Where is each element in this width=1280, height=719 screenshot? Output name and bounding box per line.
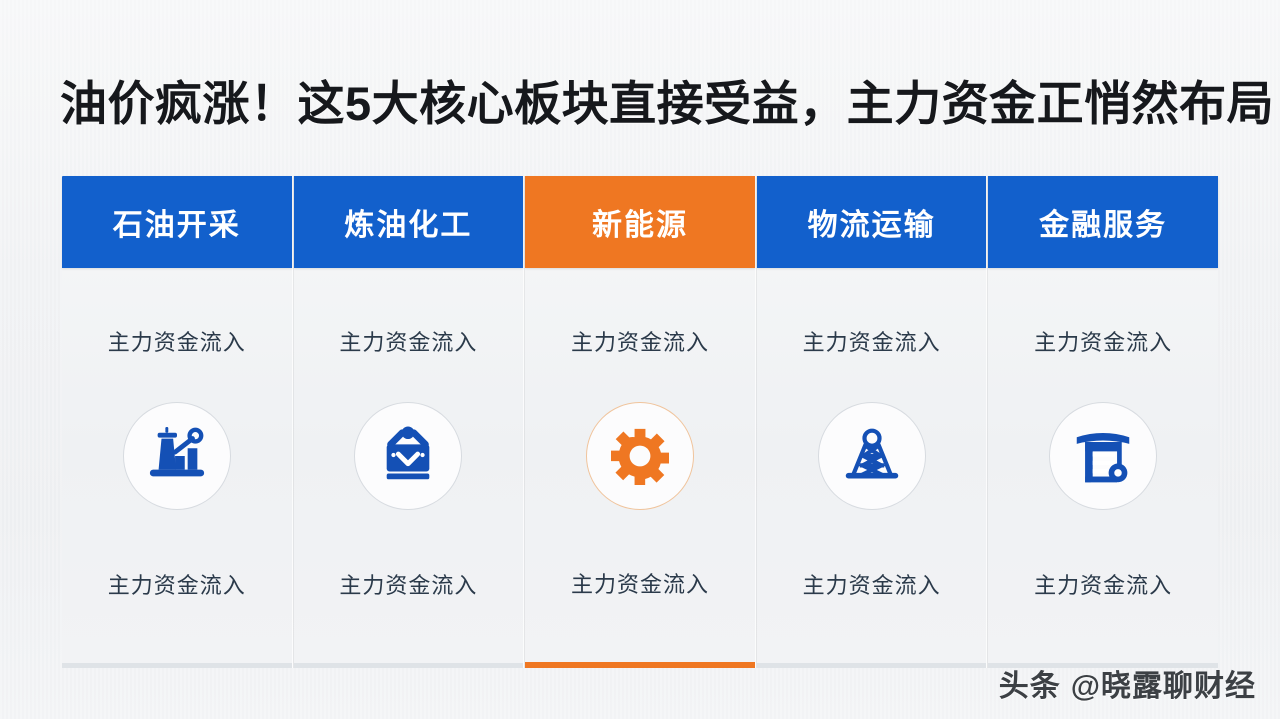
watermark-platform: 头条 — [999, 661, 1061, 705]
gear-icon — [611, 427, 669, 485]
card-header-finance: 金融服务 — [988, 176, 1218, 268]
icon-circle — [586, 402, 694, 510]
page-title: 油价疯涨！这5大核心板块直接受益，主力资金正悄然布局！ — [60, 62, 1230, 136]
card-header-refining: 炼油化工 — [294, 176, 524, 268]
card-bottom-text: 主力资金流入 — [803, 575, 941, 597]
card-top-text: 主力资金流入 — [108, 332, 246, 354]
card-header-new-energy: 新能源 — [525, 176, 755, 268]
card-bottom-text: 主力资金流入 — [108, 575, 246, 597]
card-header-logistics: 物流运输 — [757, 176, 987, 268]
card-top-text: 主力资金流入 — [803, 332, 941, 354]
drill-tower-icon — [842, 426, 902, 486]
card-top-text: 主力资金流入 — [1034, 332, 1172, 354]
card-top-text: 主力资金流入 — [571, 332, 709, 354]
sector-card-logistics[interactable]: 物流运输 主力资金流入 主力资金流入 — [756, 176, 988, 668]
sector-card-row: 石油开采 主力资金流入 主力资金流入 炼油化工 主力资金流 — [62, 176, 1218, 668]
card-bottom-text: 主力资金流入 — [571, 574, 709, 596]
icon-circle — [123, 402, 231, 510]
icon-circle — [1049, 402, 1157, 510]
card-accent-bar — [294, 663, 524, 668]
watermark: 头条 @晓露聊财经 — [999, 661, 1256, 705]
document-seal-icon — [1073, 426, 1133, 486]
card-accent-bar — [62, 663, 292, 668]
icon-circle — [354, 402, 462, 510]
card-bottom-text: 主力资金流入 — [1034, 575, 1172, 597]
refinery-plant-icon — [377, 425, 439, 487]
watermark-handle: @晓露聊财经 — [1071, 661, 1256, 705]
sector-card-new-energy[interactable]: 新能源 主力资金流入 主力资金流入 — [524, 176, 756, 668]
sector-card-finance[interactable]: 金融服务 主力资金流入 主力资金流入 — [987, 176, 1218, 668]
icon-circle — [818, 402, 926, 510]
card-top-text: 主力资金流入 — [339, 332, 477, 354]
card-header-oil-extraction: 石油开采 — [62, 176, 292, 268]
sector-card-refining[interactable]: 炼油化工 主力资金流入 主力资金流入 — [293, 176, 525, 668]
sector-card-oil-extraction[interactable]: 石油开采 主力资金流入 主力资金流入 — [62, 176, 293, 668]
card-accent-bar — [525, 662, 755, 668]
card-accent-bar — [757, 663, 987, 668]
oil-extraction-icon — [146, 425, 208, 487]
card-bottom-text: 主力资金流入 — [339, 575, 477, 597]
